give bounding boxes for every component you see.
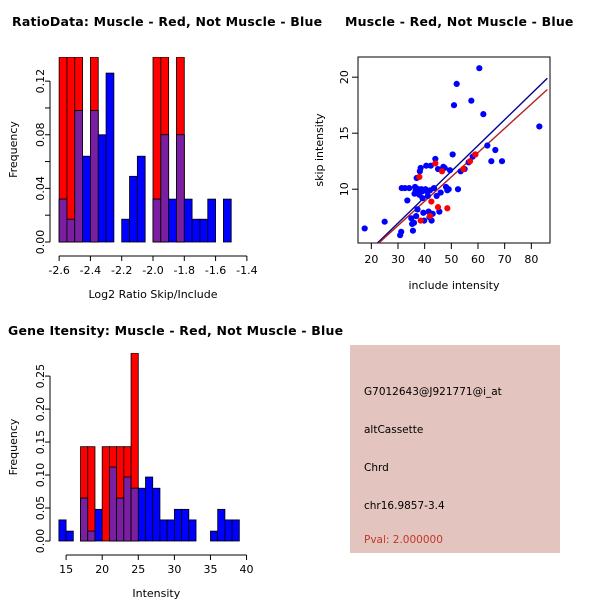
- hist-bar-not-muscle: [138, 488, 145, 541]
- histogram-bars: [59, 353, 239, 541]
- hist-bar-not-muscle: [160, 520, 167, 541]
- hist-bar-not-muscle: [66, 531, 73, 541]
- hist-bar-not-muscle: [83, 156, 91, 242]
- hist-bar-not-muscle: [130, 176, 138, 242]
- x-tick-label: 35: [203, 563, 217, 576]
- hist-bar-overlap: [131, 488, 138, 541]
- scatter-point: [472, 151, 478, 157]
- scatter-point: [467, 158, 473, 164]
- y-axis-label: Frequency: [7, 121, 20, 178]
- panel-scatter: Muscle - Red, Not Muscle - Blue 101520sk…: [300, 0, 600, 305]
- scatter-points: [362, 65, 543, 238]
- hist-bar-overlap: [90, 111, 98, 242]
- x-tick-label: 50: [444, 253, 458, 266]
- hist-bar-not-muscle: [167, 520, 174, 541]
- scatter-point: [425, 193, 431, 199]
- hist-bar-not-muscle: [200, 219, 208, 242]
- y-tick-label: 15: [338, 126, 351, 140]
- scatter-point: [418, 217, 424, 223]
- scatter-point: [382, 219, 388, 225]
- x-tick-label: -1.4: [236, 264, 257, 277]
- x-tick-label: -2.6: [48, 264, 69, 277]
- hist-bar-not-muscle: [169, 199, 177, 242]
- scatter-point: [398, 229, 404, 235]
- x-tick-label: -1.8: [174, 264, 195, 277]
- scatter-point: [438, 189, 444, 195]
- x-axis-label: Log2 Ratio Skip/Include: [88, 288, 217, 301]
- hist-bar-not-muscle: [182, 509, 189, 541]
- x-tick-label: 20: [364, 253, 378, 266]
- hist-bar-not-muscle: [122, 219, 130, 242]
- scatter-point: [410, 228, 416, 234]
- hist-bar-overlap: [81, 498, 88, 541]
- hist-bar-not-muscle: [184, 199, 192, 242]
- scatter-point: [416, 174, 422, 180]
- y-tick-label: 0.20: [34, 397, 47, 422]
- hist-bar-not-muscle: [106, 73, 114, 242]
- hist-bar-overlap: [88, 531, 95, 541]
- hist-bar-muscle: [102, 447, 109, 541]
- x-tick-label: 40: [418, 253, 432, 266]
- y-axis-label: skip intensity: [313, 113, 326, 187]
- gene-histogram-title: Gene Itensity: Muscle - Red, Not Muscle …: [8, 323, 343, 338]
- hist-bar-not-muscle: [59, 520, 66, 541]
- ratio-histogram-plot: 0.000.040.080.12Frequency-2.6-2.4-2.2-2.…: [0, 0, 300, 305]
- hist-bar-overlap: [59, 199, 67, 242]
- scatter-point: [450, 151, 456, 157]
- y-axis: 0.000.050.100.150.200.25: [34, 364, 50, 553]
- x-tick-label: -2.4: [80, 264, 101, 277]
- info-panel-background: [350, 345, 560, 553]
- scatter-point: [468, 98, 474, 104]
- hist-bar-not-muscle: [153, 488, 160, 541]
- y-tick-label: 0.00: [34, 529, 47, 554]
- scatter-point: [414, 206, 420, 212]
- x-axis: -2.6-2.4-2.2-2.0-1.8-1.6-1.4: [48, 256, 257, 277]
- x-tick-label: 30: [391, 253, 405, 266]
- hist-bar-not-muscle: [192, 219, 200, 242]
- hist-bar-not-muscle: [210, 531, 217, 541]
- scatter-point: [460, 166, 466, 172]
- scatter-point: [480, 111, 486, 117]
- hist-bar-not-muscle: [208, 199, 216, 242]
- x-tick-label: 70: [498, 253, 512, 266]
- hist-bar-not-muscle: [174, 509, 181, 541]
- info-probe-id: G7012643@J921771@i_at: [364, 386, 502, 398]
- x-tick-label: 15: [59, 563, 73, 576]
- y-tick-label: 0.15: [34, 430, 47, 455]
- hist-bar-overlap: [75, 111, 83, 242]
- hist-bar-overlap: [161, 135, 169, 242]
- scatter-point: [427, 213, 433, 219]
- info-gene-symbol: Chrd: [364, 462, 389, 474]
- x-axis: 20304050607080: [364, 243, 538, 266]
- y-tick-label: 0.04: [34, 176, 47, 201]
- hist-bar-overlap: [67, 219, 75, 242]
- scatter-point: [435, 204, 441, 210]
- x-tick-label: -2.0: [142, 264, 163, 277]
- x-tick-label: 40: [240, 563, 254, 576]
- hist-bar-not-muscle: [189, 520, 196, 541]
- scatter-point: [432, 160, 438, 166]
- x-tick-label: 30: [167, 563, 181, 576]
- scatter-point: [428, 198, 434, 204]
- scatter-point: [431, 185, 437, 191]
- y-tick-label: 0.10: [34, 463, 47, 488]
- x-tick-label: 80: [524, 253, 538, 266]
- hist-bar-muscle: [88, 447, 95, 541]
- scatter-point: [362, 225, 368, 231]
- y-tick-label: 0.00: [34, 230, 47, 255]
- scatter-title: Muscle - Red, Not Muscle - Blue: [345, 14, 574, 29]
- scatter-point: [536, 123, 542, 129]
- scatter-point: [419, 195, 425, 201]
- hist-bar-not-muscle: [137, 156, 145, 242]
- scatter-point: [418, 165, 424, 171]
- gene-histogram-plot: 0.000.050.100.150.200.25Frequency1520253…: [0, 305, 300, 600]
- fit-lines: [377, 78, 547, 243]
- hist-bar-not-muscle: [95, 509, 102, 541]
- y-tick-label: 10: [338, 182, 351, 196]
- info-event-type: altCassette: [364, 424, 423, 436]
- histogram-bars: [59, 57, 231, 242]
- hist-bar-overlap: [124, 477, 131, 541]
- scatter-point: [492, 147, 498, 153]
- scatter-point: [484, 142, 490, 148]
- scatter-point: [404, 197, 410, 203]
- hist-bar-overlap: [153, 199, 161, 242]
- scatter-plot: 101520skip intensity20304050607080includ…: [300, 0, 600, 305]
- y-axis-label: Frequency: [7, 418, 20, 475]
- x-tick-label: 25: [131, 563, 145, 576]
- scatter-point: [455, 186, 461, 192]
- y-tick-label: 0.25: [34, 364, 47, 389]
- y-axis: 101520: [338, 70, 358, 196]
- hist-bar-not-muscle: [218, 509, 225, 541]
- hist-bar-muscle: [67, 57, 75, 242]
- hist-bar-not-muscle: [223, 199, 231, 242]
- x-tick-label: 60: [471, 253, 485, 266]
- y-tick-label: 0.12: [34, 69, 47, 94]
- y-tick-label: 0.05: [34, 496, 47, 521]
- scatter-point: [476, 65, 482, 71]
- scatter-point: [447, 167, 453, 173]
- scatter-point: [406, 185, 412, 191]
- scatter-point: [499, 158, 505, 164]
- hist-bar-not-muscle: [225, 520, 232, 541]
- panel-gene-histogram: Gene Itensity: Muscle - Red, Not Muscle …: [0, 305, 300, 600]
- y-tick-label: 0.08: [34, 123, 47, 148]
- scatter-point: [420, 210, 426, 216]
- scatter-point: [451, 102, 457, 108]
- hist-bar-overlap: [117, 498, 124, 541]
- y-axis: 0.000.040.080.12: [34, 69, 50, 254]
- x-axis-label: include intensity: [408, 279, 500, 292]
- x-axis-label: Intensity: [132, 587, 180, 600]
- ratio-histogram-title: RatioData: Muscle - Red, Not Muscle - Bl…: [12, 14, 322, 29]
- scatter-point: [413, 213, 419, 219]
- hist-bar-overlap: [176, 135, 184, 242]
- x-tick-label: -1.6: [205, 264, 226, 277]
- info-pval: Pval: 2.000000: [364, 534, 443, 546]
- hist-bar-overlap: [109, 467, 116, 541]
- x-tick-label: -2.2: [111, 264, 132, 277]
- panel-ratio-histogram: RatioData: Muscle - Red, Not Muscle - Bl…: [0, 0, 300, 305]
- scatter-point: [488, 158, 494, 164]
- scatter-point: [446, 186, 452, 192]
- x-axis: 152025303540: [59, 555, 253, 576]
- scatter-point: [444, 205, 450, 211]
- scatter-point: [454, 81, 460, 87]
- info-location: chr16.9857-3.4: [364, 500, 445, 512]
- hist-bar-not-muscle: [146, 477, 153, 541]
- x-tick-label: 20: [95, 563, 109, 576]
- hist-bar-not-muscle: [98, 135, 106, 242]
- scatter-point: [439, 168, 445, 174]
- scatter-point: [411, 220, 417, 226]
- hist-bar-not-muscle: [232, 520, 239, 541]
- panel-info: G7012643@J921771@i_at altCassette Chrd c…: [300, 305, 600, 600]
- fit-line: [377, 78, 547, 243]
- y-tick-label: 20: [338, 70, 351, 84]
